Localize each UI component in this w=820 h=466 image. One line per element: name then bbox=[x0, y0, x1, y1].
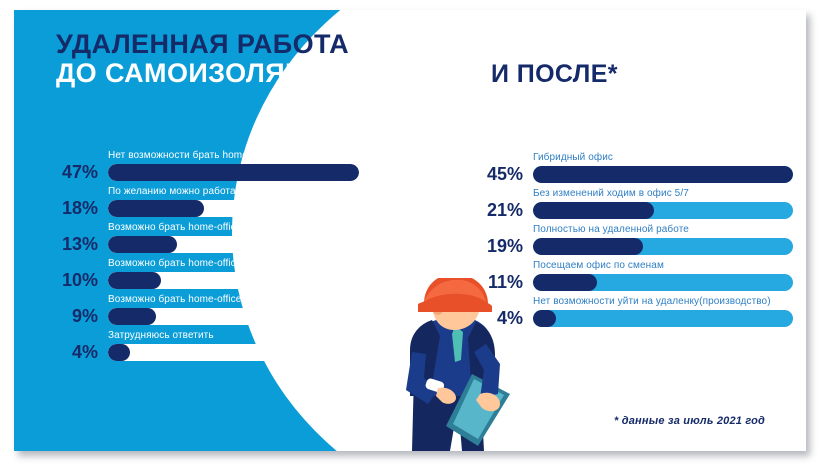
bar-category-label: Возможно брать home-office раз в месяц bbox=[108, 294, 300, 305]
bar-row: Затрудняюсь ответить4% bbox=[44, 330, 374, 366]
bar-fill bbox=[108, 164, 359, 181]
bar-track bbox=[533, 166, 793, 183]
infographic-card: УДАЛЕННАЯ РАБОТА ДО САМОИЗОЛЯЦИИ И ПОСЛЕ… bbox=[14, 10, 806, 451]
bar-fill bbox=[108, 236, 177, 253]
bar-row: Гибридный офис45% bbox=[469, 152, 799, 188]
bar-category-label: Возможно брать home-office раз в год bbox=[108, 258, 286, 269]
bar-category-label: Без изменений ходим в офис 5/7 bbox=[533, 188, 689, 199]
bar-fill bbox=[108, 308, 156, 325]
bar-value-label: 21% bbox=[469, 200, 523, 221]
bar-row: Возможно брать home-office раз в неделю1… bbox=[44, 222, 374, 258]
left-title: УДАЛЕННАЯ РАБОТА ДО САМОИЗОЛЯЦИИ bbox=[56, 30, 416, 88]
bar-category-label: Возможно брать home-office раз в неделю bbox=[108, 222, 307, 233]
bar-value-label: 10% bbox=[44, 270, 98, 291]
left-title-line1: УДАЛЕННАЯ РАБОТА bbox=[56, 30, 416, 59]
footnote: * данные за июль 2021 год bbox=[614, 415, 765, 427]
bar-row: Возможно брать home-office раз в месяц9% bbox=[44, 294, 374, 330]
left-title-line2: ДО САМОИЗОЛЯЦИИ bbox=[56, 59, 416, 88]
bar-row: По желанию можно работать из дома18% bbox=[44, 186, 374, 222]
bar-value-label: 13% bbox=[44, 234, 98, 255]
bar-track bbox=[108, 236, 359, 253]
bar-track bbox=[533, 202, 793, 219]
bar-value-label: 45% bbox=[469, 164, 523, 185]
bar-category-label: Нет возможности брать home-office bbox=[108, 150, 276, 161]
worker-illustration bbox=[376, 278, 546, 451]
bar-value-label: 19% bbox=[469, 236, 523, 257]
bar-fill bbox=[108, 200, 204, 217]
bar-fill bbox=[533, 202, 654, 219]
bar-category-label: Затрудняюсь ответить bbox=[108, 330, 214, 341]
bar-fill bbox=[533, 166, 793, 183]
bar-track bbox=[533, 274, 793, 291]
bar-track bbox=[108, 164, 359, 181]
bar-fill bbox=[108, 344, 130, 361]
bar-value-label: 9% bbox=[44, 306, 98, 327]
bar-fill bbox=[108, 272, 161, 289]
bar-category-label: Гибридный офис bbox=[533, 152, 613, 163]
bar-track bbox=[108, 200, 359, 217]
bar-row: Возможно брать home-office раз в год10% bbox=[44, 258, 374, 294]
bar-track bbox=[533, 310, 793, 327]
chart-before-isolation: Нет возможности брать home-office47%По ж… bbox=[44, 150, 374, 366]
bar-track bbox=[533, 238, 793, 255]
bar-track bbox=[108, 272, 359, 289]
bar-value-label: 47% bbox=[44, 162, 98, 183]
bar-track bbox=[108, 308, 359, 325]
bar-category-label: Полностью на удаленной работе bbox=[533, 224, 689, 235]
bar-category-label: Нет возможности уйти на удаленку(произво… bbox=[533, 296, 771, 307]
bar-category-label: По желанию можно работать из дома bbox=[108, 186, 286, 197]
bar-value-label: 18% bbox=[44, 198, 98, 219]
bar-category-label: Посещаем офис по сменам bbox=[533, 260, 664, 271]
bar-row: Без изменений ходим в офис 5/721% bbox=[469, 188, 799, 224]
bar-fill bbox=[533, 238, 643, 255]
right-title: И ПОСЛЕ* bbox=[491, 60, 618, 89]
bar-value-label: 4% bbox=[44, 342, 98, 363]
infographic-stage: УДАЛЕННАЯ РАБОТА ДО САМОИЗОЛЯЦИИ И ПОСЛЕ… bbox=[0, 0, 820, 466]
bar-track bbox=[108, 344, 359, 361]
bar-row: Полностью на удаленной работе19% bbox=[469, 224, 799, 260]
bar-row: Нет возможности брать home-office47% bbox=[44, 150, 374, 186]
